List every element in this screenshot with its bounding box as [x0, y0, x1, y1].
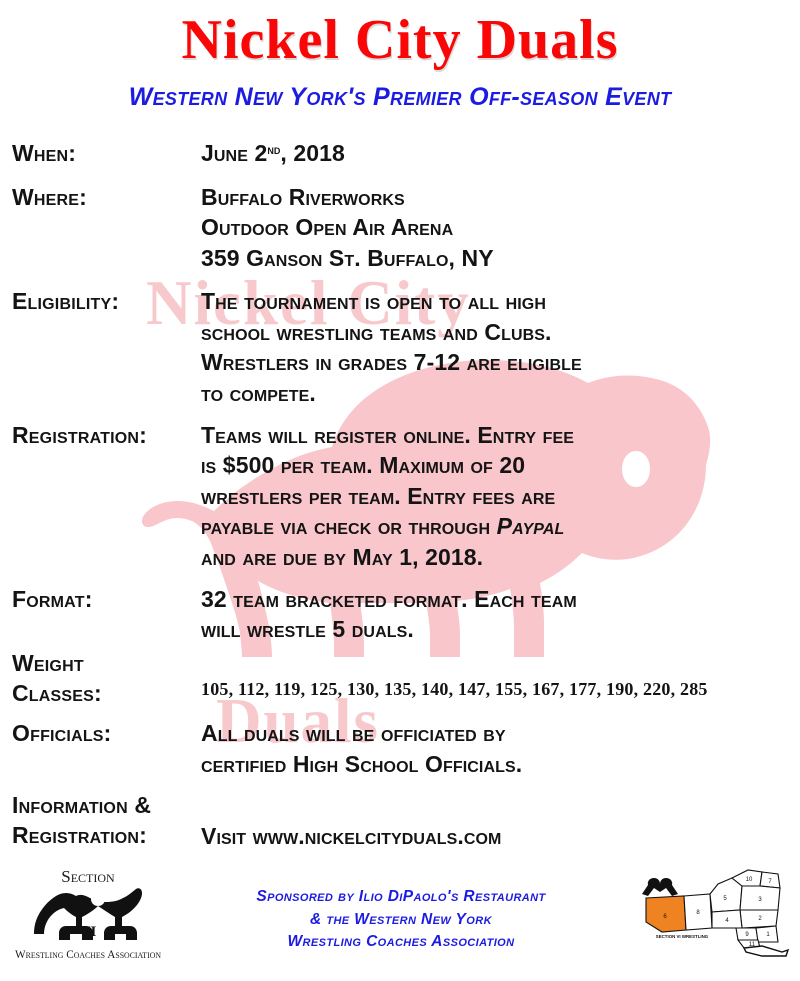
detail-row-when: When: June 2nd, 2018 — [0, 138, 800, 169]
officials-line-2: certified High School Officials. — [201, 749, 788, 780]
detail-row-eligibility: Eligibility: The tournament is open to a… — [0, 286, 800, 408]
value-format: 32 team bracketed format. Each team will… — [201, 584, 800, 645]
value-eligibility: The tournament is open to all high schoo… — [201, 286, 800, 408]
sponsor-line-1: Sponsored by Ilio DiPaolo's Restaurant — [176, 886, 626, 909]
where-address: 359 Ganson St. Buffalo, NY — [201, 243, 788, 274]
value-officials: All duals will be officiated by certifie… — [201, 718, 800, 779]
detail-row-format: Format: 32 team bracketed format. Each t… — [0, 584, 800, 645]
label-where: Where: — [0, 182, 201, 212]
ny-map-caption: SECTION VI WRESTLING — [656, 934, 709, 939]
value-where: Buffalo Riverworks Outdoor Open Air Aren… — [201, 182, 800, 274]
when-date-suffix: , 2018 — [280, 140, 345, 166]
registration-line-4: payable via check or through Paypal — [201, 511, 788, 542]
format-line-2: will wrestle 5 duals. — [201, 614, 788, 645]
wrestlers-icon-map — [642, 878, 678, 896]
detail-row-registration: Registration: Teams will register online… — [0, 420, 800, 573]
page-title: Nickel City Duals — [0, 12, 800, 68]
detail-row-where: Where: Buffalo Riverworks Outdoor Open A… — [0, 182, 800, 274]
sponsor-credit: Sponsored by Ilio DiPaolo's Restaurant &… — [176, 886, 626, 954]
section-vi-logo-top-text: Section — [61, 867, 115, 886]
value-registration: Teams will register online. Entry fee is… — [201, 420, 800, 573]
flyer-page: Nickel City Duals Nickel City Duals West… — [0, 0, 800, 981]
eligibility-line-3: Wrestlers in grades 7-12 are eligible — [201, 347, 788, 378]
eligibility-line-2: school wrestling teams and Clubs. — [201, 317, 788, 348]
section-vi-logo-middle-text: VI — [80, 924, 97, 940]
label-information-registration: Information & Registration: — [0, 790, 201, 851]
label-when: When: — [0, 138, 201, 168]
eligibility-line-1: The tournament is open to all high — [201, 286, 788, 317]
footer: Section VI Wrestling Coaches Association… — [0, 858, 800, 981]
label-weight-classes: Weight Classes: — [0, 648, 201, 709]
label-eligibility: Eligibility: — [0, 286, 201, 316]
registration-line-1: Teams will register online. Entry fee — [201, 420, 788, 451]
value-information-registration: Visit www.nickelcityduals.com — [201, 790, 800, 852]
details-list: When: June 2nd, 2018 Where: Buffalo Rive… — [0, 138, 800, 861]
eligibility-line-4: to compete. — [201, 378, 788, 409]
section-5-region — [710, 878, 742, 912]
svg-text:11: 11 — [749, 942, 756, 948]
officials-line-1: All duals will be officiated by — [201, 718, 788, 749]
label-registration: Registration: — [0, 420, 201, 450]
label-officials: Officials: — [0, 718, 201, 748]
value-weight-classes: 105, 112, 119, 125, 130, 135, 140, 147, … — [201, 648, 800, 702]
label-format: Format: — [0, 584, 201, 614]
where-arena: Outdoor Open Air Arena — [201, 212, 788, 243]
detail-row-weight-classes: Weight Classes: 105, 112, 119, 125, 130,… — [0, 648, 800, 709]
detail-row-officials: Officials: All duals will be officiated … — [0, 718, 800, 779]
registration-line-4-text: payable via check or through — [201, 513, 497, 539]
registration-paypal: Paypal — [497, 513, 565, 539]
section-vi-logo: Section VI Wrestling Coaches Association — [12, 862, 164, 962]
new-york-sections-map-logo: 10 7 5 3 6 8 4 2 9 1 11 SECTION VI WREST… — [632, 864, 790, 962]
detail-row-information: Information & Registration: Visit www.ni… — [0, 790, 800, 852]
value-when: June 2nd, 2018 — [201, 138, 800, 169]
section-vi-logo-bottom-text: Wrestling Coaches Association — [15, 949, 161, 961]
format-line-1: 32 team bracketed format. Each team — [201, 584, 788, 615]
registration-line-5: and are due by May 1, 2018. — [201, 542, 788, 573]
sponsor-line-3: Wrestling Coaches Association — [176, 931, 626, 954]
page-subtitle: Western New York's Premier Off-season Ev… — [0, 85, 800, 110]
registration-line-3: wrestlers per team. Entry fees are — [201, 481, 788, 512]
when-date-prefix: June 2 — [201, 140, 267, 166]
svg-text:10: 10 — [746, 877, 753, 883]
where-venue: Buffalo Riverworks — [201, 182, 788, 213]
registration-line-2: is $500 per team. Maximum of 20 — [201, 450, 788, 481]
sponsor-line-2: & the Western New York — [176, 909, 626, 932]
when-date-ordinal: nd — [267, 142, 280, 157]
